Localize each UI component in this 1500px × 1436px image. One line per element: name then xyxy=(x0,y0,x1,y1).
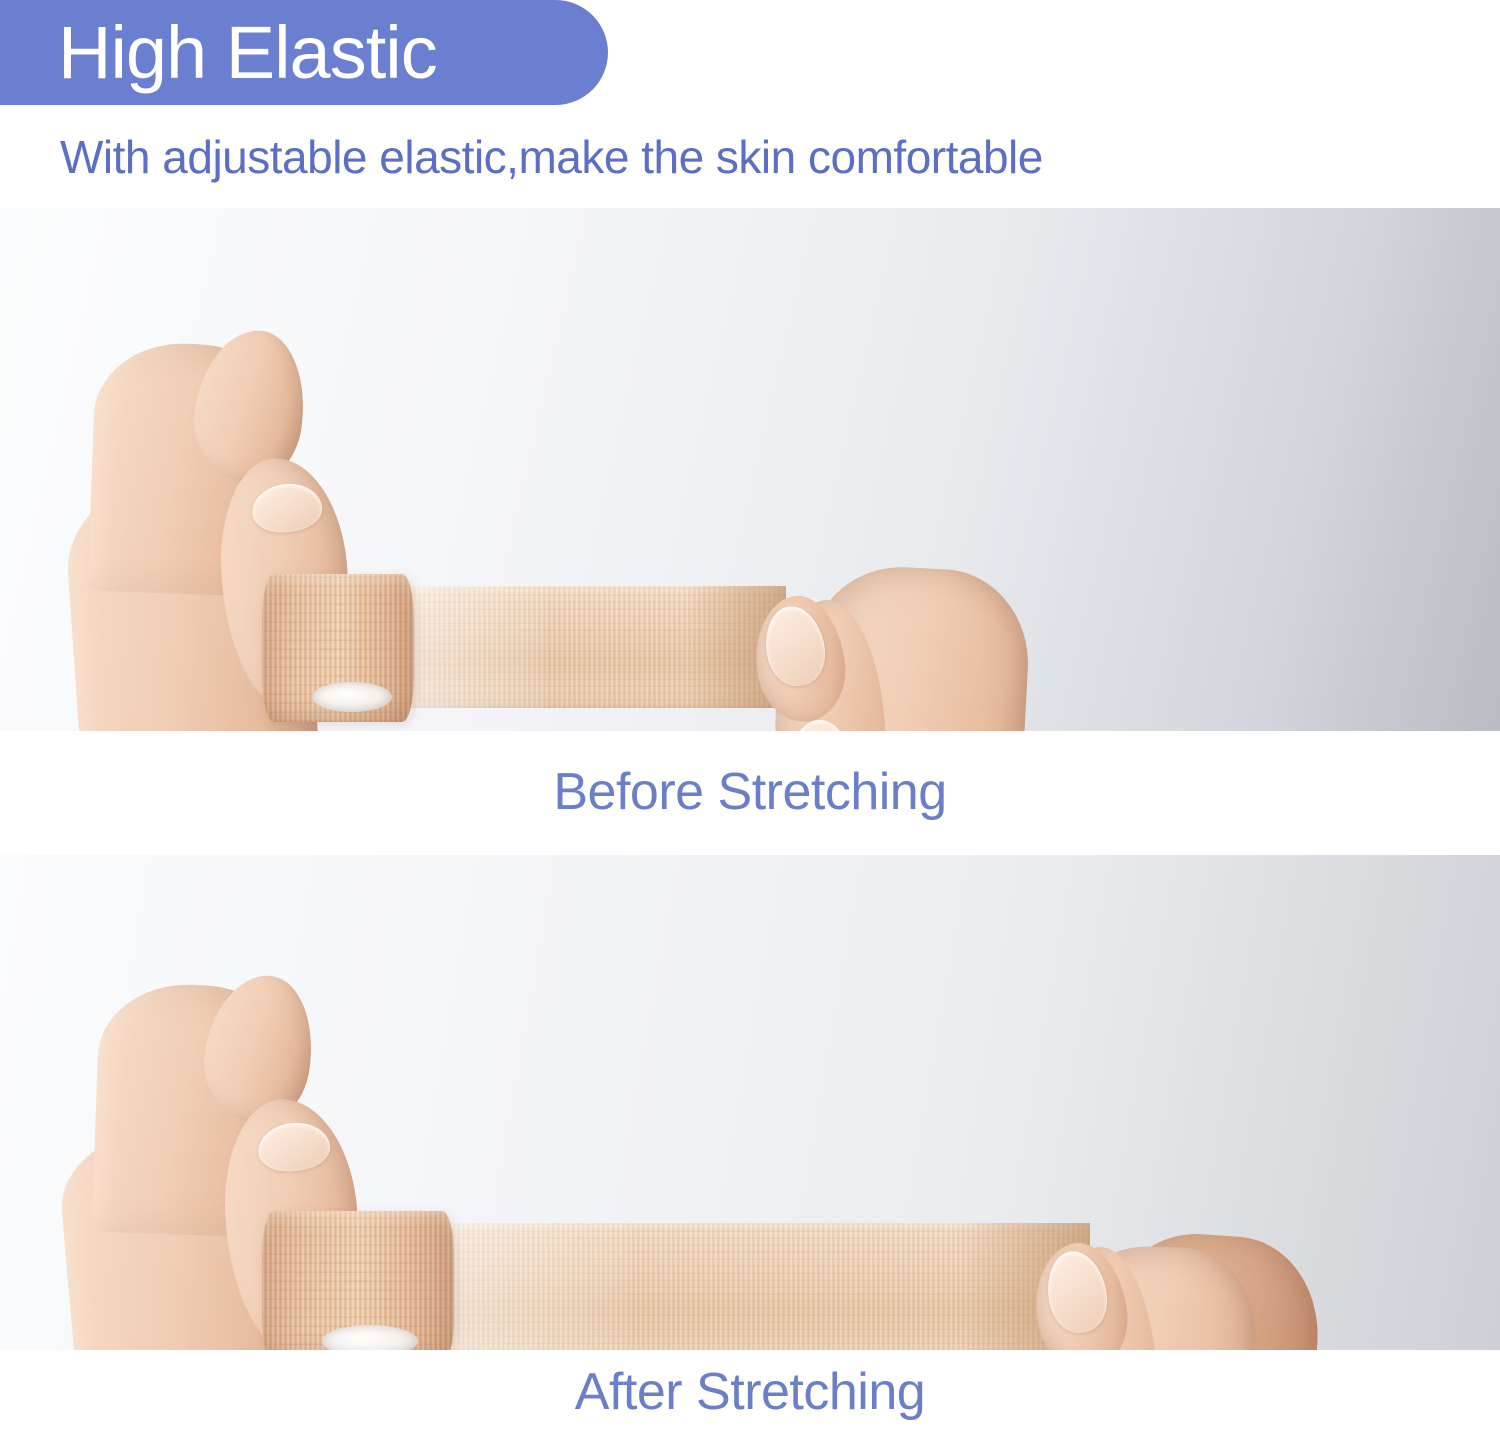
bandage-roll-core xyxy=(322,1325,418,1350)
high-elastic-badge: High Elastic xyxy=(0,0,608,105)
subtitle-text: With adjustable elastic,make the skin co… xyxy=(60,130,1043,184)
photo-before-stretching xyxy=(0,208,1500,731)
bandage-strip-highlight xyxy=(396,586,546,708)
bandage-roll-core xyxy=(312,682,392,712)
badge-label: High Elastic xyxy=(58,16,437,90)
caption-after-stretching: After Stretching xyxy=(0,1362,1500,1422)
photo-after-stretching xyxy=(0,855,1500,1350)
caption-before-stretching: Before Stretching xyxy=(0,762,1500,822)
